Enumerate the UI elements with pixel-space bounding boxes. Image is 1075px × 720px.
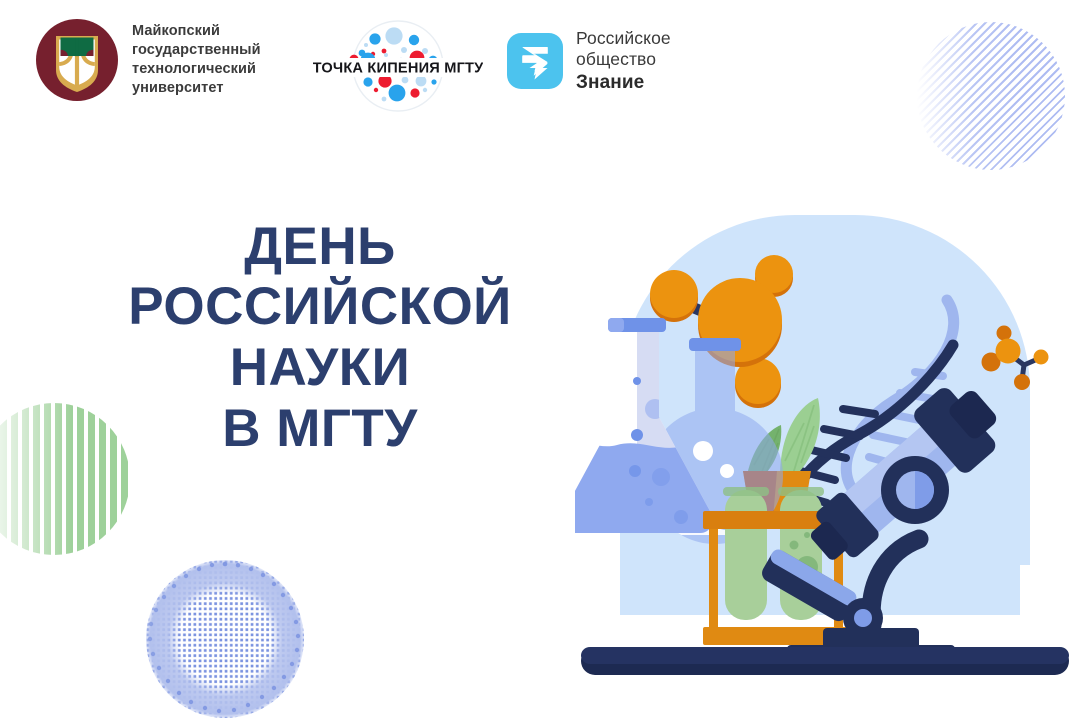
base-bar-shape xyxy=(581,647,1069,675)
znanie-text-line-1: Российское xyxy=(576,28,671,49)
znanie-text-line-2: общество xyxy=(576,49,671,70)
headline-line-3: НАУКИ xyxy=(50,338,590,399)
mgtu-logo-text: Майкопский государственный технологическ… xyxy=(132,22,261,99)
znanie-text-line-3: Знание xyxy=(576,71,671,94)
svg-text:ТОЧКА КИПЕНИЯ МГТУ: ТОЧКА КИПЕНИЯ МГТУ xyxy=(313,60,483,76)
headline-line-1: ДЕНЬ xyxy=(50,217,590,278)
tochka-kipeniya-mark-icon: ТОЧКА КИПЕНИЯ МГТУ xyxy=(313,20,483,112)
headline-line-4: В МГТУ xyxy=(50,399,590,460)
logo-bar: Майкопский государственный технологическ… xyxy=(0,0,1075,120)
headline-line-2: РОССИЙСКОЙ xyxy=(50,277,590,338)
poster-canvas: Майкопский государственный технологическ… xyxy=(0,0,1075,720)
tochka-kipeniya-logo: ТОЧКА КИПЕНИЯ МГТУ xyxy=(313,20,483,112)
znanie-mark-icon xyxy=(507,33,563,89)
znanie-logo-text: Российское общество Знание xyxy=(576,28,671,94)
science-lab-illustration xyxy=(575,195,1075,685)
mgtu-logo: Майкопский государственный технологическ… xyxy=(36,19,261,101)
page-title: ДЕНЬ РОССИЙСКОЙ НАУКИ В МГТУ xyxy=(50,217,590,460)
mgtu-emblem-icon xyxy=(36,19,118,101)
znanie-logo: Российское общество Знание xyxy=(507,28,671,94)
dotted-ring-decoration-icon xyxy=(146,560,304,718)
